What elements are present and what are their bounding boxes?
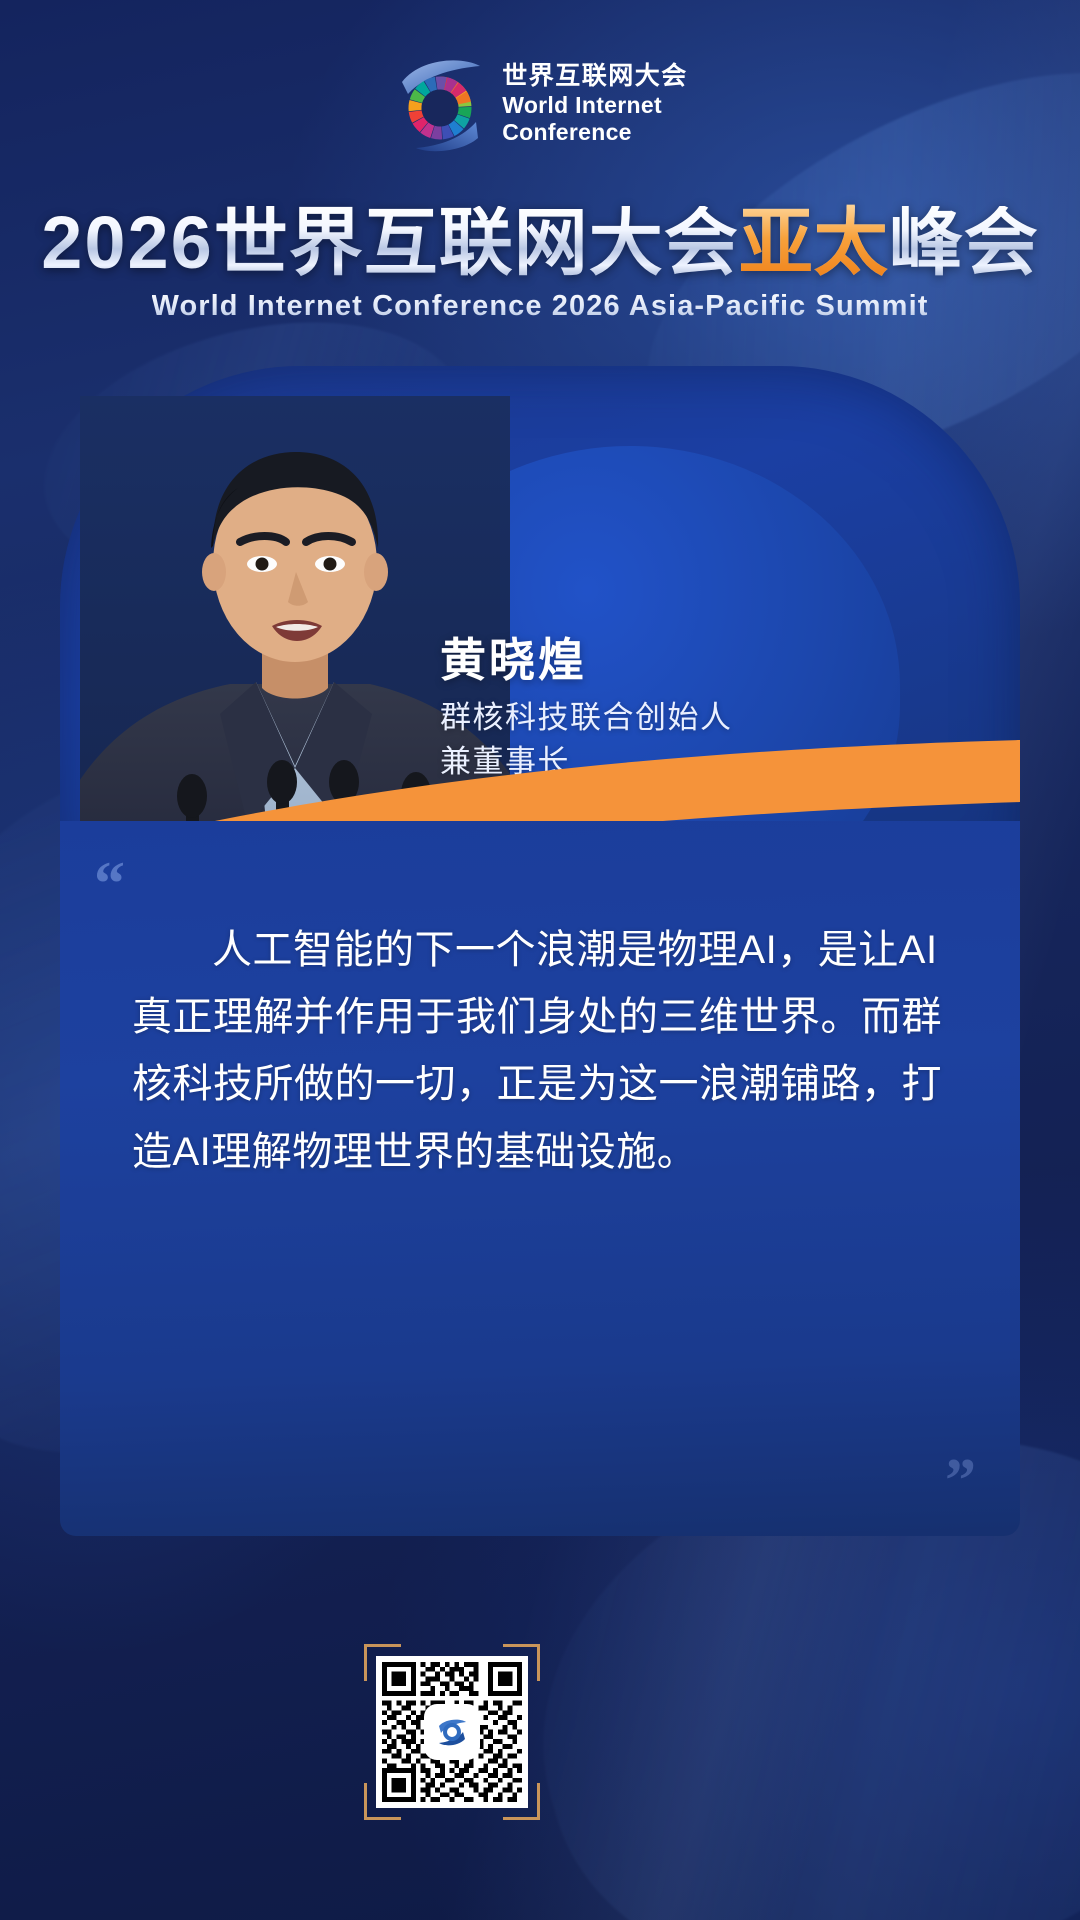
poster-root: 世界互联网大会 World Internet Conference 2026世界… (0, 0, 1080, 1920)
title-block: 2026世界互联网大会亚太峰会 World Internet Conferenc… (0, 206, 1080, 323)
title-main-cn-b: 峰会 (889, 201, 1039, 284)
logo-en-line1: World Internet (502, 92, 688, 119)
qr-code-block[interactable] (364, 1644, 540, 1820)
logo-en-line2: Conference (502, 119, 688, 146)
wic-ring-logo-icon (392, 52, 488, 156)
conference-logo: 世界互联网大会 World Internet Conference (0, 52, 1080, 156)
title-subtitle-en: World Internet Conference 2026 Asia-Paci… (152, 290, 929, 323)
speaker-name: 黄晓煌 (440, 624, 587, 690)
quote-open-mark: “ (94, 853, 125, 915)
quote-text: 人工智能的下一个浪潮是物理AI，是让AI真正理解并作用于我们身处的三维世界。而群… (132, 917, 948, 1186)
title-highlight-cn: 亚太 (739, 201, 889, 284)
title-year: 2026 (41, 201, 214, 284)
title-main-cn-a: 世界互联网大会 (214, 201, 739, 284)
wic-eye-logo-icon (426, 1706, 478, 1758)
logo-text-block: 世界互联网大会 World Internet Conference (502, 62, 688, 146)
speaker-card: 黄晓煌 群核科技联合创始人 兼董事长 “ 人工智能的下一个浪潮是物理AI，是让A… (60, 366, 1020, 1536)
quote-panel: “ 人工智能的下一个浪潮是物理AI，是让AI真正理解并作用于我们身处的三维世界。… (60, 821, 1020, 1536)
logo-cn-name: 世界互联网大会 (502, 62, 688, 92)
quote-close-mark: ” (945, 1450, 976, 1512)
page-title: 2026世界互联网大会亚太峰会 (41, 206, 1039, 280)
